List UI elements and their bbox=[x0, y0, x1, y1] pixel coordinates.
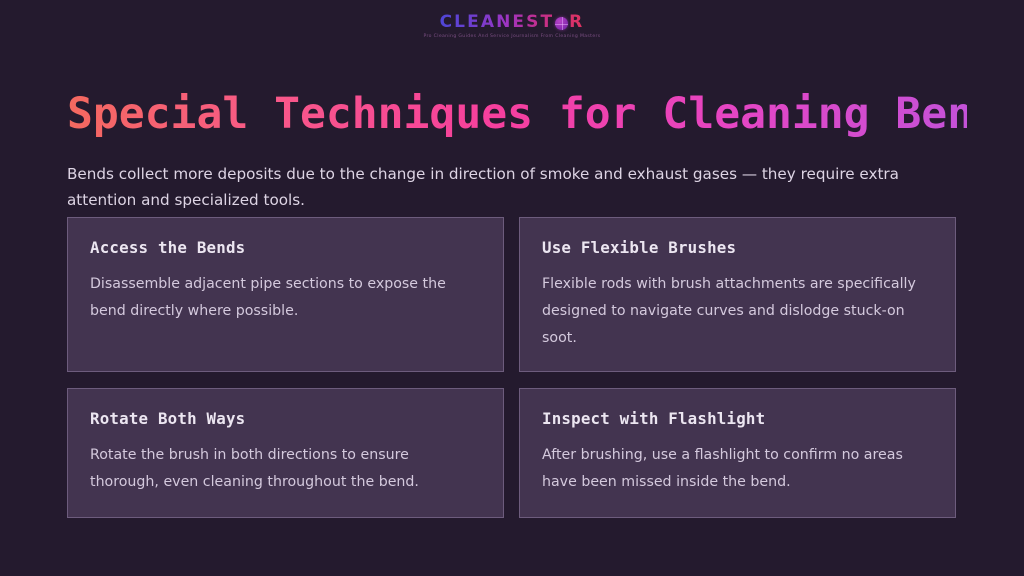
card-title: Access the Bends bbox=[90, 238, 481, 258]
globe-icon bbox=[555, 17, 568, 30]
technique-card: Inspect with Flashlight After brushing, … bbox=[519, 388, 956, 518]
brand-name-part2: R bbox=[569, 13, 584, 32]
technique-card: Access the Bends Disassemble adjacent pi… bbox=[67, 217, 504, 372]
technique-card: Use Flexible Brushes Flexible rods with … bbox=[519, 217, 956, 372]
page-title: Special Techniques for Cleaning Bends bbox=[67, 89, 967, 139]
technique-card-grid: Access the Bends Disassemble adjacent pi… bbox=[67, 217, 956, 518]
card-body: Flexible rods with brush attachments are… bbox=[542, 271, 933, 352]
brand-tagline: Pro Cleaning Guides And Service Journali… bbox=[424, 33, 601, 40]
technique-card: Rotate Both Ways Rotate the brush in bot… bbox=[67, 388, 504, 518]
card-body: After brushing, use a flashlight to conf… bbox=[542, 442, 933, 496]
site-logo[interactable]: CLEANESTR Pro Cleaning Guides And Servic… bbox=[0, 13, 1024, 40]
brand-name-part1: CLEANEST bbox=[440, 13, 555, 32]
card-title: Rotate Both Ways bbox=[90, 409, 481, 429]
card-title: Inspect with Flashlight bbox=[542, 409, 933, 429]
brand-wordmark: CLEANESTR bbox=[440, 13, 585, 32]
card-title: Use Flexible Brushes bbox=[542, 238, 933, 258]
card-body: Disassemble adjacent pipe sections to ex… bbox=[90, 271, 481, 325]
page-subtitle: Bends collect more deposits due to the c… bbox=[67, 161, 907, 213]
card-body: Rotate the brush in both directions to e… bbox=[90, 442, 481, 496]
